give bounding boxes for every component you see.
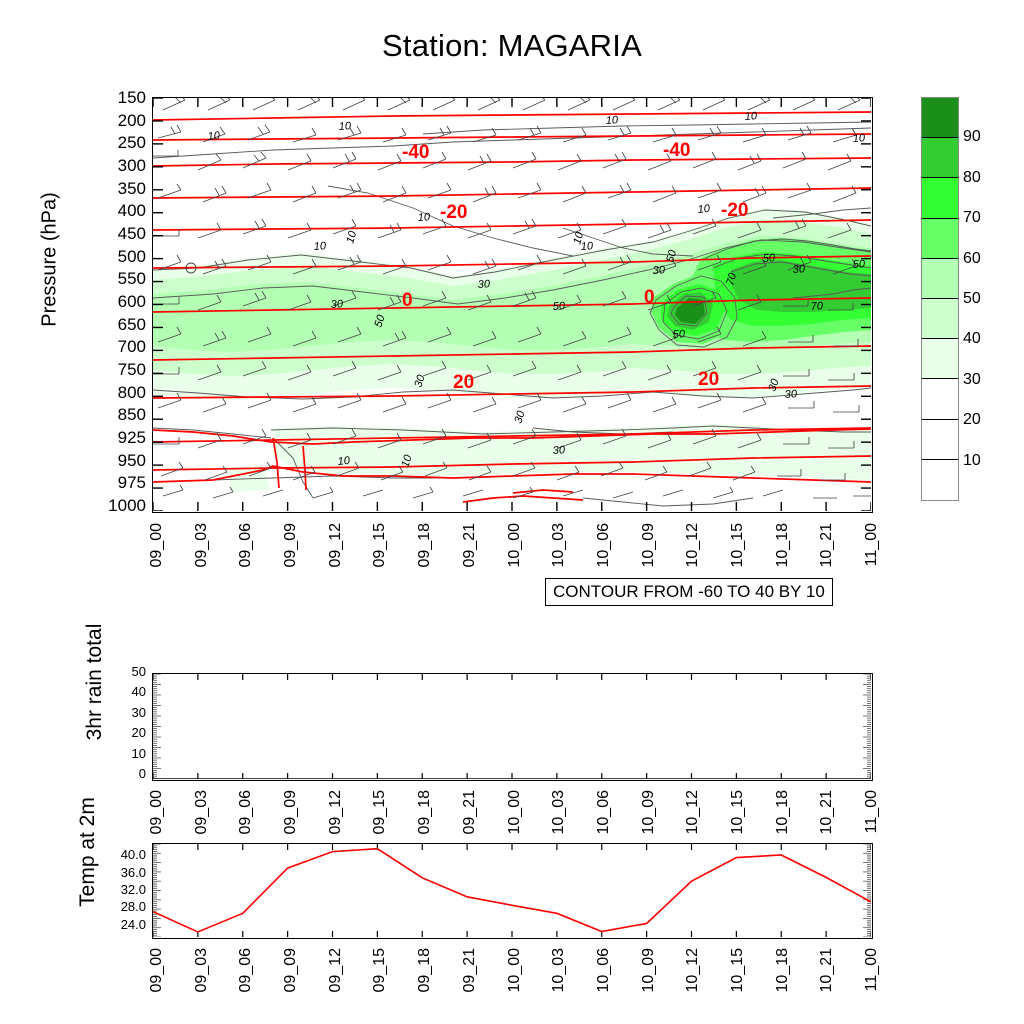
svg-text:10: 10 [580,240,594,253]
colorbar-band [922,420,958,460]
time-label-temp: 09_15 [371,948,389,1006]
svg-text:30: 30 [477,278,491,291]
time-axis-labels-rain: 09_0009_0309_0609_0909_1209_1509_1809_21… [152,786,873,846]
time-label-rain: 11_00 [863,790,881,848]
svg-text:10: 10 [207,130,221,143]
rain-tick-label: 20 [132,726,146,739]
svg-text:70: 70 [810,300,824,313]
time-label-main: 10_15 [729,523,747,581]
time-label-rain: 09_00 [148,790,166,848]
colorbar-band [922,339,958,379]
pressure-label: 750 [118,361,146,378]
temp-tick-label: 36.0 [121,866,146,879]
svg-text:10: 10 [744,110,758,123]
svg-text:0: 0 [644,287,655,308]
svg-text:50: 50 [762,252,776,265]
time-label-main: 09_06 [237,523,255,581]
temp-tick-label: 40.0 [121,848,146,861]
colorbar-band [922,98,958,138]
time-label-main: 09_03 [193,523,211,581]
time-label-main: 10_18 [774,523,792,581]
time-label-temp: 09_03 [193,948,211,1006]
time-label-temp: 10_00 [506,948,524,1006]
time-label-temp: 10_03 [550,948,568,1006]
pressure-label: 700 [118,338,146,355]
pressure-label: 1000 [108,497,146,514]
rain-tick-label: 0 [139,767,146,780]
colorbar-tick-label: 40 [963,330,981,348]
time-label-main: 10_12 [684,523,702,581]
time-label-main: 09_00 [148,523,166,581]
pressure-label: 850 [118,406,146,423]
svg-text:-20: -20 [721,200,748,221]
time-label-rain: 10_15 [729,790,747,848]
time-label-rain: 09_06 [237,790,255,848]
temp-tick-label: 24.0 [121,918,146,931]
time-label-main: 10_03 [550,523,568,581]
time-label-temp: 09_09 [282,948,300,1006]
time-label-main: 10_00 [506,523,524,581]
pressure-label: 800 [118,384,146,401]
colorbar-band [922,460,958,500]
svg-text:10: 10 [605,114,619,127]
colorbar-tick-labels: 908070605040302010 [963,97,1023,501]
rain-tick-label: 30 [132,706,146,719]
rain-tick-label: 10 [132,747,146,760]
humidity-colorbar[interactable] [921,97,959,501]
time-label-main: 11_00 [863,523,881,581]
svg-text:50: 50 [552,300,566,313]
rain-tick-label: 40 [132,685,146,698]
colorbar-band [922,138,958,178]
page-title: Station: MAGARIA [0,28,1024,64]
time-label-rain: 09_18 [416,790,434,848]
svg-text:10: 10 [338,120,352,133]
time-label-temp: 11_00 [863,948,881,1006]
time-label-main: 09_21 [461,523,479,581]
time-label-temp: 09_18 [416,948,434,1006]
time-label-rain: 09_12 [327,790,345,848]
time-label-rain: 10_09 [640,790,658,848]
time-label-main: 10_09 [640,523,658,581]
svg-text:30: 30 [552,444,566,457]
colorbar-band [922,299,958,339]
svg-text:50: 50 [672,328,686,341]
contour-note: CONTOUR FROM -60 TO 40 BY 10 [545,578,833,606]
svg-text:10: 10 [344,229,359,245]
colorbar-tick-label: 30 [963,371,981,389]
temp-2m-plot[interactable] [152,843,873,939]
time-label-temp: 09_21 [461,948,479,1006]
svg-text:10: 10 [697,203,711,216]
pressure-label: 500 [118,248,146,265]
svg-text:10: 10 [337,455,351,468]
pressure-label: 600 [118,293,146,310]
svg-text:-40: -40 [402,142,429,163]
pressure-label: 200 [118,112,146,129]
svg-text:0: 0 [402,290,413,311]
time-label-rain: 10_00 [506,790,524,848]
colorbar-band [922,379,958,419]
temp-tick-label: 32.0 [121,883,146,896]
rain-tick-label: 50 [132,665,146,678]
time-label-rain: 09_09 [282,790,300,848]
time-label-rain: 10_18 [774,790,792,848]
time-label-rain: 10_12 [684,790,702,848]
svg-text:10: 10 [852,132,866,145]
time-label-temp: 10_06 [595,948,613,1006]
time-label-temp: 10_18 [774,948,792,1006]
colorbar-band [922,178,958,218]
time-label-main: 10_21 [818,523,836,581]
time-label-main: 09_18 [416,523,434,581]
cross-section-svg: 10 10 10 10 10 10 10 10 10 10 10 30 30 3… [153,98,871,511]
humidity-cross-section-plot[interactable]: 10 10 10 10 10 10 10 10 10 10 10 30 30 3… [152,97,873,513]
time-label-temp: 09_06 [237,948,255,1006]
time-label-temp: 10_09 [640,948,658,1006]
pressure-label: 550 [118,270,146,287]
time-label-rain: 09_03 [193,790,211,848]
svg-text:30: 30 [512,409,527,425]
time-label-temp: 09_12 [327,948,345,1006]
time-label-temp: 10_15 [729,948,747,1006]
svg-text:10: 10 [313,240,327,253]
temp-axis-labels: 40.036.032.028.024.0 [76,843,146,939]
time-label-rain: 09_15 [371,790,389,848]
time-label-rain: 10_06 [595,790,613,848]
time-label-main: 09_09 [282,523,300,581]
colorbar-tick-label: 90 [963,128,981,146]
svg-text:-40: -40 [663,140,690,161]
pressure-label: 250 [118,134,146,151]
colorbar-tick-label: 10 [963,452,981,470]
pressure-label: 400 [118,202,146,219]
pressure-label: 975 [118,474,146,491]
pressure-label: 300 [118,157,146,174]
colorbar-band [922,259,958,299]
pressure-label: 150 [118,89,146,106]
svg-text:30: 30 [784,388,798,401]
time-label-temp: 10_21 [818,948,836,1006]
time-label-rain: 10_03 [550,790,568,848]
colorbar-tick-label: 50 [963,290,981,308]
colorbar-tick-label: 20 [963,411,981,429]
pressure-axis-labels: 1502002503003504004505005506006507007508… [40,97,146,513]
time-label-main: 10_06 [595,523,613,581]
rain-svg [153,674,871,779]
colorbar-tick-label: 80 [963,169,981,187]
pressure-label: 450 [118,225,146,242]
time-label-temp: 09_00 [148,948,166,1006]
colorbar-tick-label: 60 [963,250,981,268]
svg-text:20: 20 [453,372,474,393]
time-label-rain: 09_21 [461,790,479,848]
svg-text:10: 10 [417,211,431,224]
colorbar-tick-label: 70 [963,209,981,227]
pressure-label: 925 [118,429,146,446]
time-label-rain: 10_21 [818,790,836,848]
time-label-main: 09_12 [327,523,345,581]
svg-text:30: 30 [652,264,666,277]
time-label-main: 09_15 [371,523,389,581]
temp-svg [153,844,871,937]
temp-tick-label: 28.0 [121,900,146,913]
svg-text:30: 30 [330,298,344,311]
svg-text:30: 30 [792,263,806,276]
pressure-label: 950 [118,452,146,469]
svg-text:20: 20 [698,369,719,390]
pressure-label: 350 [118,180,146,197]
time-label-temp: 10_12 [684,948,702,1006]
colorbar-band [922,219,958,259]
time-axis-labels-temp: 09_0009_0309_0609_0909_1209_1509_1809_21… [152,944,873,1004]
pressure-label: 650 [118,316,146,333]
rain-total-plot[interactable] [152,673,873,781]
svg-text:-20: -20 [440,202,467,223]
svg-text:50: 50 [852,258,866,271]
